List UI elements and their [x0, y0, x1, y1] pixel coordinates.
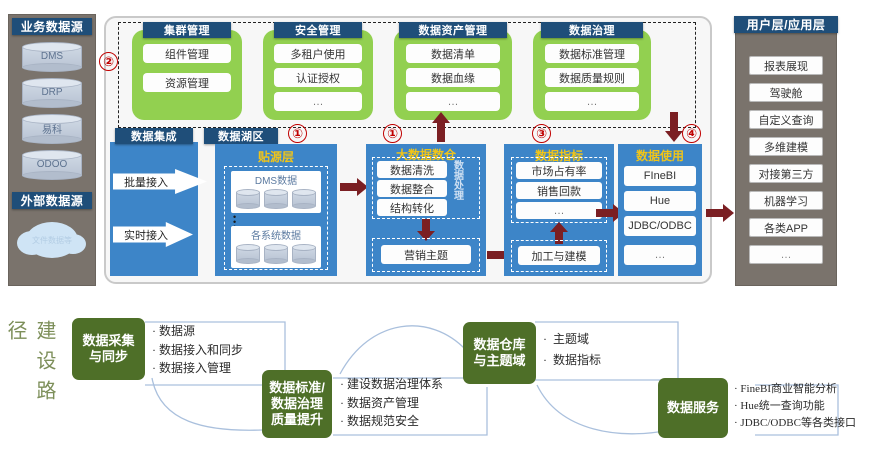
governance-item[interactable]: 数据血缘 — [406, 68, 500, 87]
marker-1a: ① — [288, 124, 307, 143]
data-lake-title: 数据湖区 — [204, 128, 278, 144]
data-source-label: DRP — [22, 87, 82, 98]
user-layer-item[interactable]: 机器学习 — [749, 191, 823, 210]
data-source-label: ODOO — [22, 159, 82, 170]
system-cylinder — [236, 244, 260, 264]
roadmap-stage-bullets-2: · 建设数据治理体系 · 数据资产管理 · 数据规范安全 — [340, 375, 443, 431]
user-layer-item[interactable]: … — [749, 245, 823, 264]
batch-ingest-label: 批量接入 — [113, 169, 179, 194]
governance-item[interactable]: 组件管理 — [143, 44, 231, 63]
dms-data-label: DMS数据 — [231, 172, 321, 186]
business-data-source-title: 业务数据源 — [12, 18, 92, 35]
roadmap-bullet: · JDBC/ODBC等各类接口 — [734, 415, 856, 432]
marker-3: ③ — [532, 124, 551, 143]
governance-item[interactable]: 数据质量规则 — [545, 68, 639, 87]
data-source-cylinder: DRP — [22, 78, 82, 108]
marketing-theme-item[interactable]: 营销主题 — [381, 245, 471, 264]
dms-cylinder — [292, 189, 316, 209]
governance-panel-cluster-title: 集群管理 — [143, 22, 231, 38]
roadmap-stage-bullets-1: · 数据源 · 数据接入和同步 · 数据接入管理 — [152, 322, 243, 378]
usage-item[interactable]: JDBC/ODBC — [624, 216, 696, 236]
roadmap-stage-bullets-3: · 主题域 · 数据指标 — [543, 329, 601, 371]
roadmap-stage-box-1[interactable]: 数据采集 与同步 — [72, 318, 145, 380]
warehouse-side-label: 数据处理 — [450, 160, 464, 218]
data-integration-title: 数据集成 — [115, 128, 193, 144]
warehouse-process-item[interactable]: 结构转化 — [377, 199, 447, 216]
data-usage-title: 数据使用 — [618, 147, 702, 163]
governance-item[interactable]: … — [545, 92, 639, 111]
system-data-label: 各系统数据 — [231, 227, 321, 241]
data-source-label: 易科 — [22, 121, 82, 136]
user-layer-item[interactable]: 自定义查询 — [749, 110, 823, 129]
usage-item[interactable]: … — [624, 245, 696, 265]
user-layer-item[interactable]: 各类APP — [749, 218, 823, 237]
marker-4: ④ — [682, 124, 701, 143]
user-layer-item[interactable]: 驾驶舱 — [749, 83, 823, 102]
roadmap-bullet: · FineBI商业智能分析 — [734, 381, 856, 398]
governance-item[interactable]: 认证授权 — [274, 68, 362, 87]
arrow-up-to-asset-icon — [432, 112, 450, 142]
governance-item[interactable]: 数据标准管理 — [545, 44, 639, 63]
usage-item[interactable]: Hue — [624, 191, 696, 211]
arrow-usage-to-user-layer-icon — [706, 204, 734, 222]
governance-panel-data-governance-title: 数据治理 — [541, 22, 643, 38]
metric-item[interactable]: 市场占有率 — [516, 162, 602, 179]
modeling-item[interactable]: 加工与建模 — [518, 246, 600, 265]
roadmap-side-label: 建设路径 — [18, 320, 42, 438]
system-cylinder — [264, 244, 288, 264]
data-source-cylinder: 易科 — [22, 114, 82, 144]
metric-item[interactable]: 销售回款 — [516, 182, 602, 199]
roadmap-bullet: · Hue统一查询功能 — [734, 398, 856, 415]
roadmap-bullet: · 建设数据治理体系 — [340, 375, 443, 394]
user-layer-item[interactable]: 对接第三方 — [749, 164, 823, 183]
data-lake-layer-title: 贴源层 — [215, 148, 337, 164]
realtime-ingest-label: 实时接入 — [113, 222, 179, 247]
roadmap-stage-bullets-4: · FineBI商业智能分析 · Hue统一查询功能 · JDBC/ODBC等各… — [734, 381, 856, 432]
dms-cylinder — [264, 189, 288, 209]
data-source-cylinder: DMS — [22, 42, 82, 72]
marker-2: ② — [99, 52, 118, 71]
roadmap-stage-box-3[interactable]: 数据仓库 与主题域 — [463, 322, 536, 384]
warehouse-process-item[interactable]: 数据清洗 — [377, 161, 447, 178]
file-data-cloud-label: 文件数据等 — [32, 236, 72, 245]
user-layer-item[interactable]: 多维建模 — [749, 137, 823, 156]
user-layer-item[interactable]: 报表展现 — [749, 56, 823, 75]
governance-item[interactable]: 数据清单 — [406, 44, 500, 63]
data-source-cylinder: ODOO — [22, 150, 82, 180]
external-data-source-title: 外部数据源 — [12, 192, 92, 209]
file-data-cloud: 文件数据等 — [26, 222, 78, 258]
governance-panel-asset-title: 数据资产管理 — [399, 22, 507, 38]
metric-item[interactable]: … — [516, 202, 602, 219]
data-source-label: DMS — [22, 51, 82, 62]
data-integration-panel — [110, 142, 198, 276]
roadmap-stage-box-4[interactable]: 数据服务 — [658, 378, 728, 438]
roadmap-stage-box-2[interactable]: 数据标准/ 数据治理 质量提升 — [262, 370, 332, 438]
roadmap-bullet: · 数据资产管理 — [340, 394, 443, 413]
roadmap-bullet: · 数据接入和同步 — [152, 341, 243, 360]
roadmap-bullet: · 数据接入管理 — [152, 359, 243, 378]
usage-item[interactable]: FIneBI — [624, 166, 696, 186]
governance-item[interactable]: … — [274, 92, 362, 111]
arrow-down-from-governance-icon — [665, 112, 683, 142]
roadmap-bullet: · 数据指标 — [543, 350, 601, 371]
warehouse-process-item[interactable]: 数据整合 — [377, 180, 447, 197]
marker-1b: ① — [383, 124, 402, 143]
governance-item[interactable]: … — [406, 92, 500, 111]
dms-cylinder — [236, 189, 260, 209]
roadmap-bullet: · 数据源 — [152, 322, 243, 341]
user-application-layer-title: 用户层/应用层 — [734, 16, 838, 33]
roadmap-bullet: · 主题域 — [543, 329, 601, 350]
arrow-lake-to-warehouse-icon — [340, 178, 368, 196]
governance-panel-security-title: 安全管理 — [274, 22, 362, 38]
system-cylinder — [292, 244, 316, 264]
governance-item[interactable]: 多租户使用 — [274, 44, 362, 63]
governance-item[interactable]: 资源管理 — [143, 73, 231, 92]
roadmap-bullet: · 数据规范安全 — [340, 412, 443, 431]
